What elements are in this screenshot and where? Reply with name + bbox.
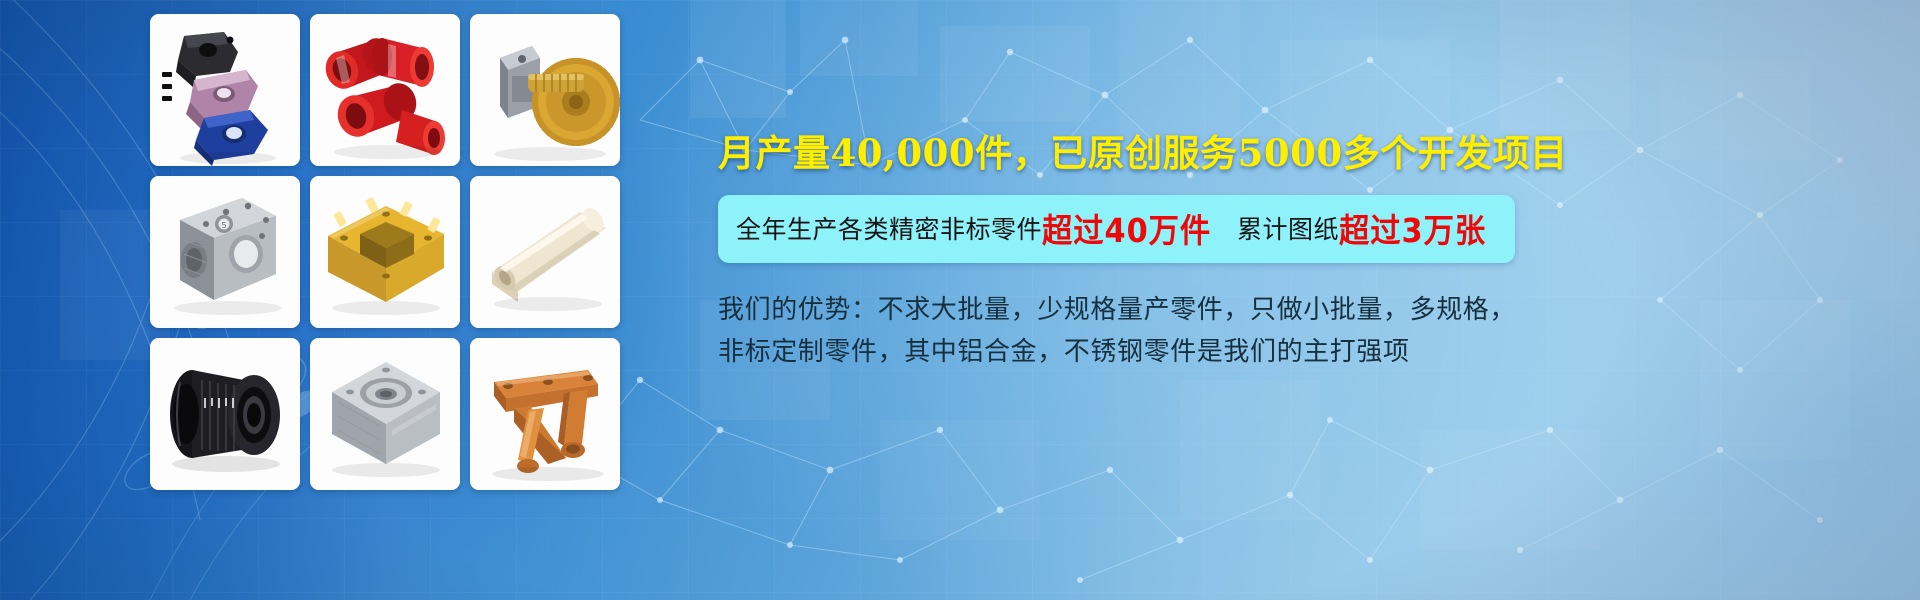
anodized-aluminum-brackets-image bbox=[150, 14, 300, 166]
gold-anodized-frame-plate-image bbox=[310, 176, 460, 328]
gallery-item-copper-plated-support-arm[interactable] bbox=[470, 338, 620, 490]
gallery-item-machined-aluminum-cube-block[interactable] bbox=[310, 338, 460, 490]
svg-text:5: 5 bbox=[221, 221, 226, 230]
aluminum-gearbox-housing-image: 5 bbox=[150, 176, 300, 328]
stats-ribbon: 全年生产各类精密非标零件 超过40万件 累计图纸 超过3万张 bbox=[718, 195, 1515, 263]
white-peek-tube-part-image bbox=[470, 176, 620, 328]
red-anodized-cylinder-housings-image bbox=[310, 14, 460, 166]
ribbon-highlight-output: 超过40万件 bbox=[1042, 204, 1211, 252]
promo-banner: 5 bbox=[0, 0, 1920, 600]
banner-copy: 月产量40,000件，已原创服务5000多个开发项目 全年生产各类精密非标零件 … bbox=[718, 132, 1868, 373]
gallery-item-white-peek-tube-part[interactable] bbox=[470, 176, 620, 328]
brass-worm-gear-assembly-image bbox=[470, 14, 620, 166]
gallery-item-gold-anodized-frame-plate[interactable] bbox=[310, 176, 460, 328]
gallery-item-aluminum-gearbox-housing[interactable]: 5 bbox=[150, 176, 300, 328]
body-copy: 我们的优势：不求大批量，少规格量产零件，只做小批量，多规格， 非标定制零件，其中… bbox=[718, 289, 1868, 373]
ribbon-mid-text: 累计图纸 bbox=[1237, 210, 1339, 246]
gallery-item-red-anodized-cylinder-housings[interactable] bbox=[310, 14, 460, 166]
headline-text: 月产量40,000件，已原创服务5000多个开发项目 bbox=[718, 132, 1868, 175]
ribbon-highlight-drawings: 超过3万张 bbox=[1339, 204, 1486, 252]
ribbon-lead-text: 全年生产各类精密非标零件 bbox=[736, 210, 1042, 246]
product-gallery-grid: 5 bbox=[150, 14, 620, 490]
machined-aluminum-cube-block-image bbox=[310, 338, 460, 490]
gallery-item-black-threaded-hub[interactable] bbox=[150, 338, 300, 490]
body-line-2: 非标定制零件，其中铝合金，不锈钢零件是我们的主打强项 bbox=[718, 331, 1868, 373]
body-line-1: 我们的优势：不求大批量，少规格量产零件，只做小批量，多规格， bbox=[718, 289, 1868, 331]
gallery-item-brass-worm-gear-assembly[interactable] bbox=[470, 14, 620, 166]
gallery-item-anodized-aluminum-brackets[interactable] bbox=[150, 14, 300, 166]
black-threaded-hub-image bbox=[150, 338, 300, 490]
copper-plated-support-arm-image bbox=[470, 338, 620, 490]
